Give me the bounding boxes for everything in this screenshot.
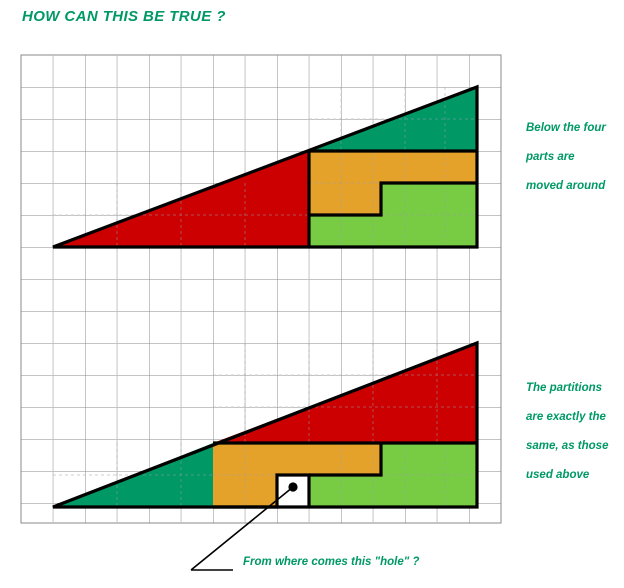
page-title: HOW CAN THIS BE TRUE ?	[22, 8, 226, 25]
hole-caption: From where comes this "hole" ?	[243, 556, 419, 568]
diagram-canvas: HOW CAN THIS BE TRUE ?	[0, 0, 624, 588]
lower-note: The partitions are exactly the same, as …	[526, 382, 608, 498]
upper-note-line-3: moved around	[526, 180, 606, 192]
upper-note-line-1: Below the four	[526, 122, 606, 134]
upper-note: Below the four parts are moved around	[526, 122, 606, 209]
lower-note-line-4: used above	[526, 469, 608, 481]
upper-note-line-2: parts are	[526, 151, 606, 163]
lower-note-line-3: same, as those	[526, 440, 608, 452]
paradox-figure	[0, 0, 624, 588]
lower-note-line-1: The partitions	[526, 382, 608, 394]
hole-marker-dot	[288, 482, 297, 491]
lower-note-line-2: are exactly the	[526, 411, 608, 423]
